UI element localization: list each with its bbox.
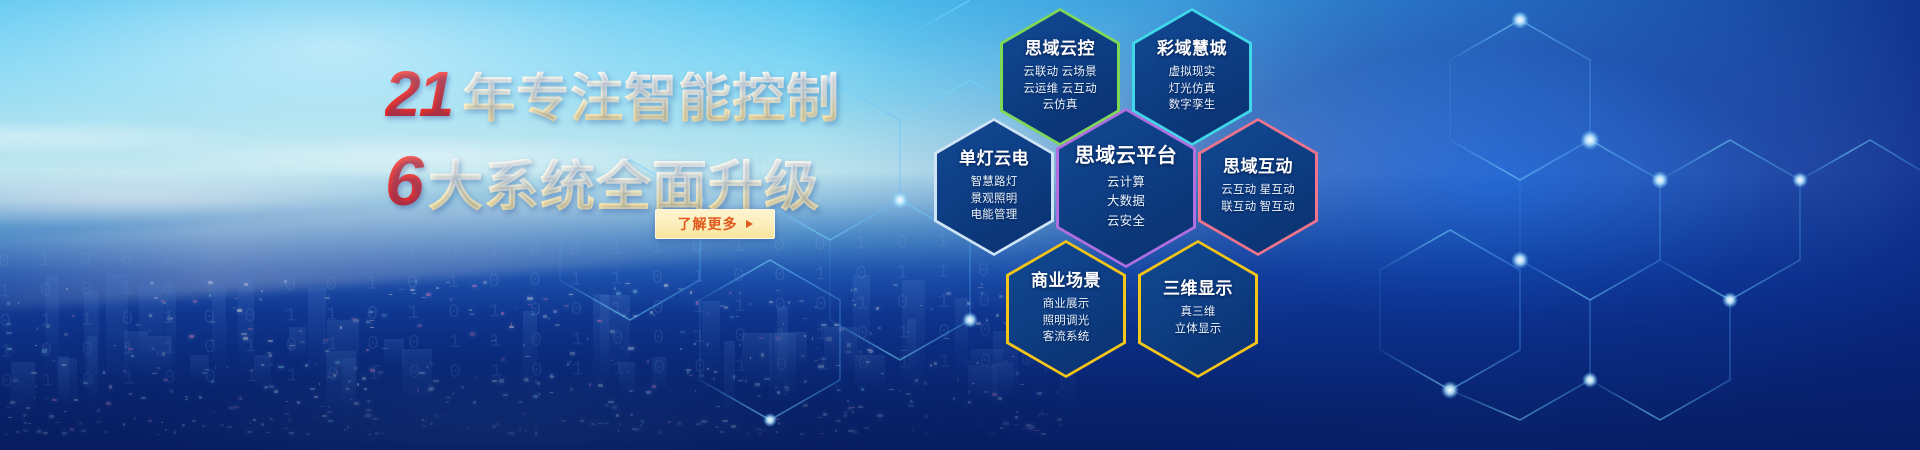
hex-title: 单灯云电 (959, 150, 1029, 169)
headline-line-2: 6 大系统全面升级 (385, 146, 865, 216)
hex-subtitle-line: 云安全 (1107, 212, 1145, 231)
hex-subtitle-list: 智慧路灯景观照明电能管理 (971, 174, 1018, 224)
hex-subtitle-line: 智慧路灯 (971, 174, 1018, 191)
hex-card-single-lamp-cloud-power[interactable]: 单灯云电智慧路灯景观照明电能管理 (934, 118, 1054, 256)
hex-title: 思域互动 (1223, 158, 1293, 177)
play-arrow-icon (746, 220, 753, 228)
hex-subtitle-list: 商业展示照明调光客流系统 (1043, 296, 1090, 346)
hex-subtitle-list: 云计算大数据云安全 (1107, 173, 1145, 231)
hex-title: 三维显示 (1163, 280, 1233, 299)
hex-content: 思域互动云互动 星互动联互动 智互动 (1198, 118, 1318, 256)
hex-subtitle-line: 大数据 (1107, 192, 1145, 211)
headline-line-1: 21 年专注智能控制 (385, 62, 865, 126)
promo-banner: 0 1 0 0 1 0 1 1 0 0 1 0 1 0 0 1 1 0 1 0 … (0, 0, 1920, 450)
headline-text-2: 大系统全面升级 (428, 159, 820, 214)
hex-subtitle-line: 电能管理 (971, 207, 1018, 224)
learn-more-label: 了解更多 (678, 214, 738, 234)
headline-block: 21 年专注智能控制 6 大系统全面升级 (385, 62, 865, 216)
hex-subtitle-list: 虚拟现实灯光仿真数字孪生 (1169, 64, 1216, 114)
hex-subtitle-line: 云互动 星互动 (1221, 182, 1295, 199)
hex-subtitle-line: 灯光仿真 (1169, 81, 1216, 98)
headline-text-1: 年专注智能控制 (462, 72, 840, 125)
hex-subtitle-line: 客流系统 (1043, 329, 1090, 346)
hex-subtitle-line: 虚拟现实 (1169, 64, 1216, 81)
hex-subtitle-line: 联互动 智互动 (1221, 199, 1295, 216)
learn-more-button[interactable]: 了解更多 (655, 209, 775, 239)
headline-number-years: 21 (385, 62, 462, 126)
hex-content: 商业场景商业展示照明调光客流系统 (1006, 240, 1126, 378)
hex-subtitle-line: 真三维 (1175, 304, 1222, 321)
hex-card-siyu-interactive[interactable]: 思域互动云互动 星互动联互动 智互动 (1198, 118, 1318, 256)
hex-title: 商业场景 (1031, 272, 1101, 291)
hex-subtitle-line: 立体显示 (1175, 321, 1222, 338)
hex-content: 三维显示真三维立体显示 (1138, 240, 1258, 378)
hex-subtitle-list: 真三维立体显示 (1175, 304, 1222, 337)
hex-card-three-dimensional-display[interactable]: 三维显示真三维立体显示 (1138, 240, 1258, 378)
hex-title: 彩域慧城 (1157, 40, 1227, 59)
hex-subtitle-line: 云联动 云场景 (1023, 64, 1097, 81)
hex-subtitle-line: 云运维 云互动 (1023, 81, 1097, 98)
headline-number-systems: 6 (385, 146, 428, 216)
hexagon-cluster: 思域云控云联动 云场景云运维 云互动云仿真彩域慧城虚拟现实灯光仿真数字孪生单灯云… (1000, 8, 1520, 444)
hex-subtitle-line: 景观照明 (971, 191, 1018, 208)
hex-subtitle-list: 云联动 云场景云运维 云互动云仿真 (1023, 64, 1097, 114)
hex-subtitle-line: 云计算 (1107, 173, 1145, 192)
hex-subtitle-line: 商业展示 (1043, 296, 1090, 313)
hex-title: 思域云控 (1025, 40, 1095, 59)
hex-content: 单灯云电智慧路灯景观照明电能管理 (934, 118, 1054, 256)
hex-subtitle-line: 照明调光 (1043, 313, 1090, 330)
hex-subtitle-list: 云互动 星互动联互动 智互动 (1221, 182, 1295, 215)
hex-card-commercial-scene[interactable]: 商业场景商业展示照明调光客流系统 (1006, 240, 1126, 378)
hex-title: 思域云平台 (1075, 145, 1178, 167)
